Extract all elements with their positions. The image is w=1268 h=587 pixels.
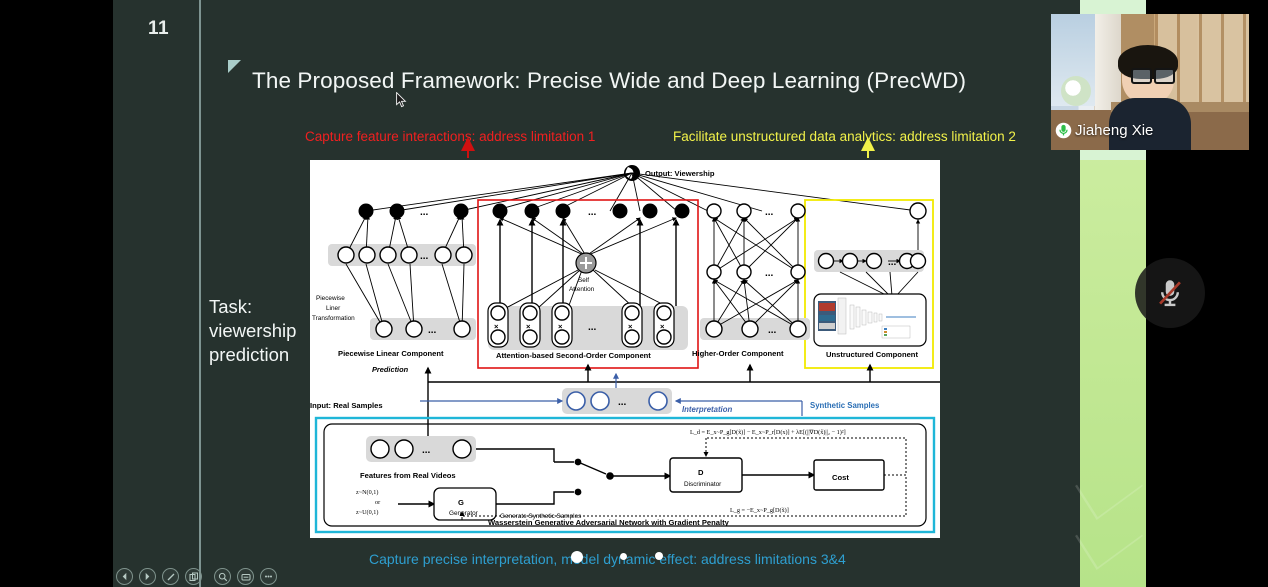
participant-name-overlay: Jiaheng Xie	[1055, 122, 1153, 139]
participant-name: Jiaheng Xie	[1075, 122, 1153, 139]
generator-letter: G	[458, 498, 464, 507]
pointer-dot-1	[571, 551, 583, 563]
framework-diagram: .nb{fill:#000;stroke:#000;stroke-width:1…	[310, 160, 940, 538]
wgan-title: Wasserstein Generative Adversarial Netwo…	[488, 518, 730, 527]
slide-number: 11	[148, 18, 169, 40]
features-real-videos-label: Features from Real Videos	[360, 471, 456, 480]
microphone-on-icon	[1055, 122, 1072, 139]
ellipsis-icon[interactable]	[260, 568, 277, 585]
slide-left-margin	[113, 0, 199, 587]
svg-text:...: ...	[888, 257, 897, 268]
mouse-cursor	[396, 92, 407, 108]
pointer-dot-3	[655, 552, 663, 560]
pointer-dot-2	[620, 553, 627, 560]
svg-text:z~U(0,1): z~U(0,1)	[356, 509, 378, 516]
svg-text:...: ...	[428, 325, 437, 336]
prediction-label: Prediction	[372, 365, 409, 374]
glasses-icon	[1131, 68, 1173, 80]
task-label: Task: viewership prediction	[209, 295, 319, 367]
svg-text:...: ...	[618, 397, 627, 408]
interpretation-label: Interpretation	[682, 405, 732, 414]
svg-text:Piecewise: Piecewise	[316, 295, 345, 302]
cost-label: Cost	[832, 473, 849, 482]
microphone-muted-icon[interactable]	[1135, 258, 1205, 328]
video-plant	[1061, 76, 1091, 106]
synthetic-samples-label: Synthetic Samples	[810, 401, 880, 410]
higher-order-component-label: Higher-Order Component	[692, 349, 784, 358]
annotation-blue: Capture precise interpretation, model dy…	[369, 551, 846, 567]
loss-d-formula: L_d = E_x~P_g[D(x̃)] − E_x~P_r[D(x)] + λ…	[690, 429, 846, 436]
attention-component-label: Attention-based Second-Order Component	[496, 351, 651, 360]
output-label: Output: Viewership	[645, 169, 715, 178]
svg-text:z~N(0,1): z~N(0,1)	[356, 489, 378, 496]
svg-text:...: ...	[588, 322, 597, 333]
copy-icon[interactable]	[185, 568, 202, 585]
notes-icon[interactable]	[237, 568, 254, 585]
svg-text:...: ...	[588, 207, 597, 218]
svg-text:...: ...	[765, 268, 774, 279]
input-real-samples-label: Input: Real Samples	[310, 401, 383, 410]
svg-text:...: ...	[765, 207, 774, 218]
svg-text:or: or	[375, 499, 380, 506]
svg-text:Transformation: Transformation	[312, 315, 355, 322]
svg-text:...: ...	[420, 251, 429, 262]
unstructured-component-label: Unstructured Component	[826, 350, 918, 359]
svg-text:Attention: Attention	[569, 286, 595, 293]
prev-slide-button[interactable]	[116, 568, 133, 585]
screen-root: 11 The Proposed Framework: Precise Wide …	[0, 0, 1268, 587]
annotation-yellow: Facilitate unstructured data analytics: …	[673, 129, 1016, 144]
title-triangle-icon	[228, 60, 241, 73]
left-letterbox	[0, 0, 113, 587]
presenter-toolbar[interactable]	[116, 568, 277, 585]
page-title: The Proposed Framework: Precise Wide and…	[252, 68, 966, 94]
annotation-red: Capture feature interactions: address li…	[305, 129, 595, 144]
magnifier-icon[interactable]	[214, 568, 231, 585]
svg-text:...: ...	[420, 207, 429, 218]
piecewise-linear-component-label: Piecewise Linear Component	[338, 349, 444, 358]
participant-video-tile[interactable]: Jiaheng Xie	[1051, 14, 1249, 150]
loss-g-formula: L_g = −E_x~P_g[D(x̃)]	[730, 507, 789, 514]
svg-text:Self: Self	[578, 277, 589, 284]
discriminator-letter: D	[698, 468, 704, 477]
next-slide-button[interactable]	[139, 568, 156, 585]
discriminator-label: Discriminator	[684, 481, 722, 488]
svg-text:Liner: Liner	[326, 305, 341, 312]
svg-text:...: ...	[422, 445, 431, 456]
pen-icon[interactable]	[162, 568, 179, 585]
svg-text:...: ...	[768, 325, 777, 336]
